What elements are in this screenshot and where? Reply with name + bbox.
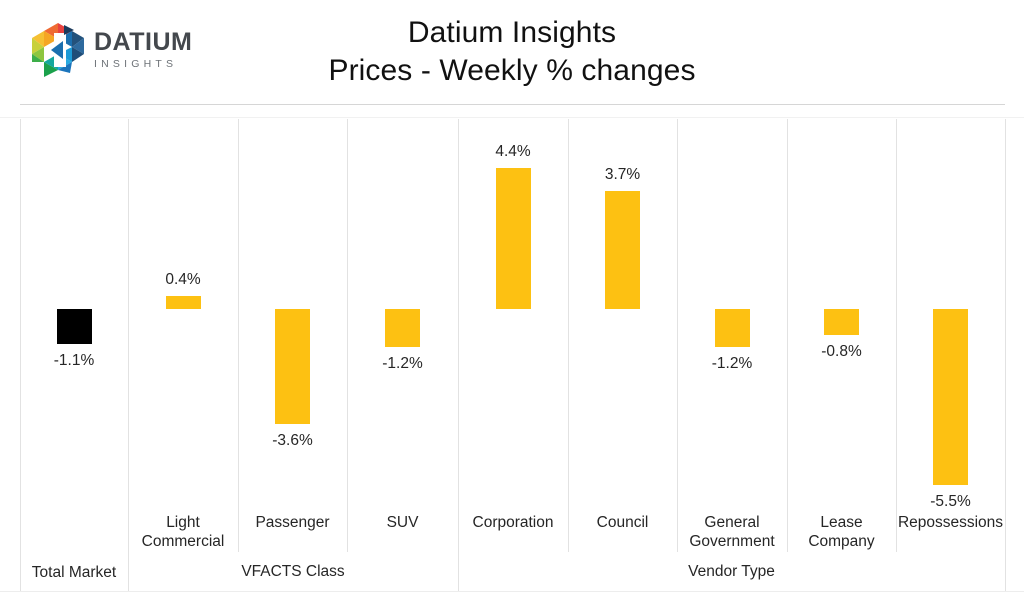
bar-value-label: -0.8%: [782, 344, 902, 360]
group-label: Vendor Type: [612, 563, 852, 581]
bar-value-label: 3.7%: [563, 167, 683, 183]
plot-top-edge: [0, 117, 1024, 118]
title-line-2: Prices - Weekly % changes: [212, 52, 812, 90]
bar-value-label: 4.4%: [453, 144, 573, 160]
gridline: [458, 119, 459, 504]
category-axis: Total MarketLight CommercialPassengerSUV…: [0, 504, 1024, 594]
gridline: [896, 119, 897, 504]
bar[interactable]: [57, 309, 92, 344]
bar[interactable]: [933, 309, 968, 485]
brand-logo: DATIUM INSIGHTS: [30, 20, 190, 80]
bar[interactable]: [496, 168, 531, 309]
wordmark-sub: INSIGHTS: [94, 59, 192, 70]
bar-value-label: -1.2%: [672, 356, 792, 372]
bar[interactable]: [385, 309, 420, 347]
zero-baseline: [20, 104, 1005, 105]
brand-wordmark: DATIUM INSIGHTS: [94, 30, 192, 70]
page-title: Datium Insights Prices - Weekly % change…: [212, 14, 812, 91]
gridline: [787, 119, 788, 504]
bar[interactable]: [605, 191, 640, 309]
group-label: VFACTS Class: [173, 563, 413, 581]
bar[interactable]: [166, 296, 201, 309]
category-label: Total Market: [0, 563, 149, 582]
category-label: Repossessions: [876, 513, 1024, 532]
bar[interactable]: [275, 309, 310, 424]
axis-bottom-border: [0, 591, 1024, 592]
gridline: [20, 119, 21, 504]
bar-value-label: -1.1%: [14, 353, 134, 369]
datium-hex-logo-icon: [30, 21, 86, 79]
gridline: [128, 119, 129, 504]
bar[interactable]: [824, 309, 859, 335]
chart-header: DATIUM INSIGHTS Datium Insights Prices -…: [0, 0, 1024, 104]
title-line-1: Datium Insights: [212, 14, 812, 52]
wordmark-main: DATIUM: [94, 30, 192, 55]
bar-value-label: -3.6%: [233, 433, 353, 449]
bar-value-label: 0.4%: [123, 272, 243, 288]
bar-value-label: -1.2%: [343, 356, 463, 372]
gridline: [1005, 119, 1006, 504]
bar[interactable]: [715, 309, 750, 347]
bar-chart-plot-area: -1.1%0.4%-3.6%-1.2%4.4%3.7%-1.2%-0.8%-5.…: [0, 104, 1024, 504]
